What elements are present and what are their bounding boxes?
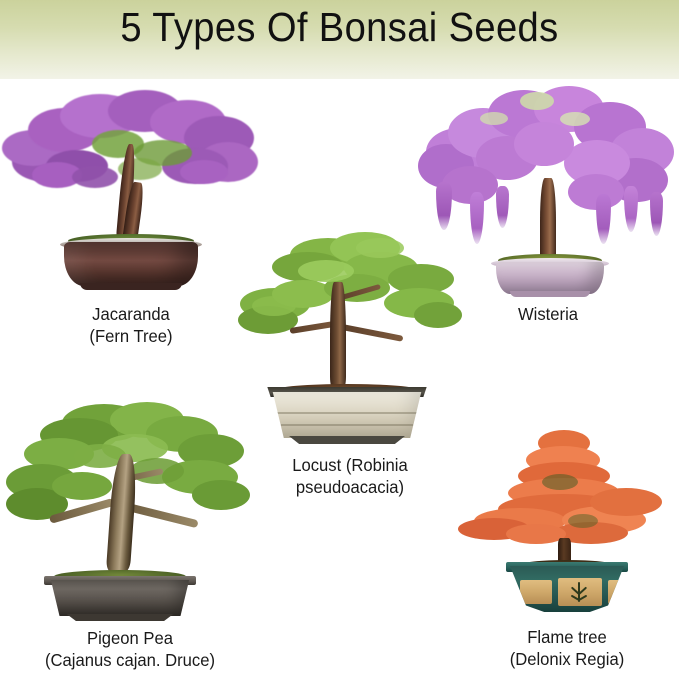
flame-tree-pot bbox=[510, 566, 624, 612]
jacaranda-pot-foot bbox=[80, 283, 182, 290]
jacaranda-pot bbox=[64, 242, 198, 286]
locust-pot-groove-2 bbox=[281, 424, 414, 426]
locust-pot-groove-1 bbox=[277, 412, 416, 414]
flame-tree-pot-panel-center bbox=[558, 578, 602, 606]
header-banner: 5 Types Of Bonsai Seeds bbox=[0, 0, 679, 79]
wisteria-pot bbox=[496, 262, 604, 294]
locust-pot bbox=[268, 392, 426, 438]
wisteria-pot-foot bbox=[510, 291, 590, 297]
locust-image bbox=[238, 224, 462, 452]
jacaranda-caption: Jacaranda (Fern Tree) bbox=[8, 303, 253, 348]
plant-card-locust[interactable]: Locust (Robinia pseudoacacia) bbox=[238, 224, 462, 499]
plant-card-pigeon-pea[interactable]: Pigeon Pea (Cajanus cajan. Druce) bbox=[6, 398, 254, 672]
wisteria-trunk bbox=[540, 178, 556, 264]
pigeon-pea-image bbox=[6, 398, 254, 626]
locust-pot-foot bbox=[284, 436, 410, 444]
pigeon-pea-pot bbox=[48, 580, 192, 616]
pigeon-pea-caption: Pigeon Pea (Cajanus cajan. Druce) bbox=[12, 627, 248, 672]
plant-card-jacaranda[interactable]: Jacaranda (Fern Tree) bbox=[2, 82, 260, 348]
flame-tree-image bbox=[458, 428, 676, 624]
page-title: 5 Types Of Bonsai Seeds bbox=[24, 4, 655, 51]
pigeon-pea-pot-foot bbox=[62, 614, 178, 621]
flame-tree-pot-panel-right bbox=[608, 580, 622, 604]
locust-caption: Locust (Robinia pseudoacacia) bbox=[244, 454, 457, 499]
flame-tree-caption: Flame tree (Delonix Regia) bbox=[463, 626, 670, 671]
flame-tree-pot-panel-left bbox=[520, 580, 552, 604]
plant-card-flame-tree[interactable]: Flame tree (Delonix Regia) bbox=[458, 428, 676, 671]
jacaranda-image bbox=[2, 82, 260, 302]
locust-trunk bbox=[330, 282, 346, 392]
